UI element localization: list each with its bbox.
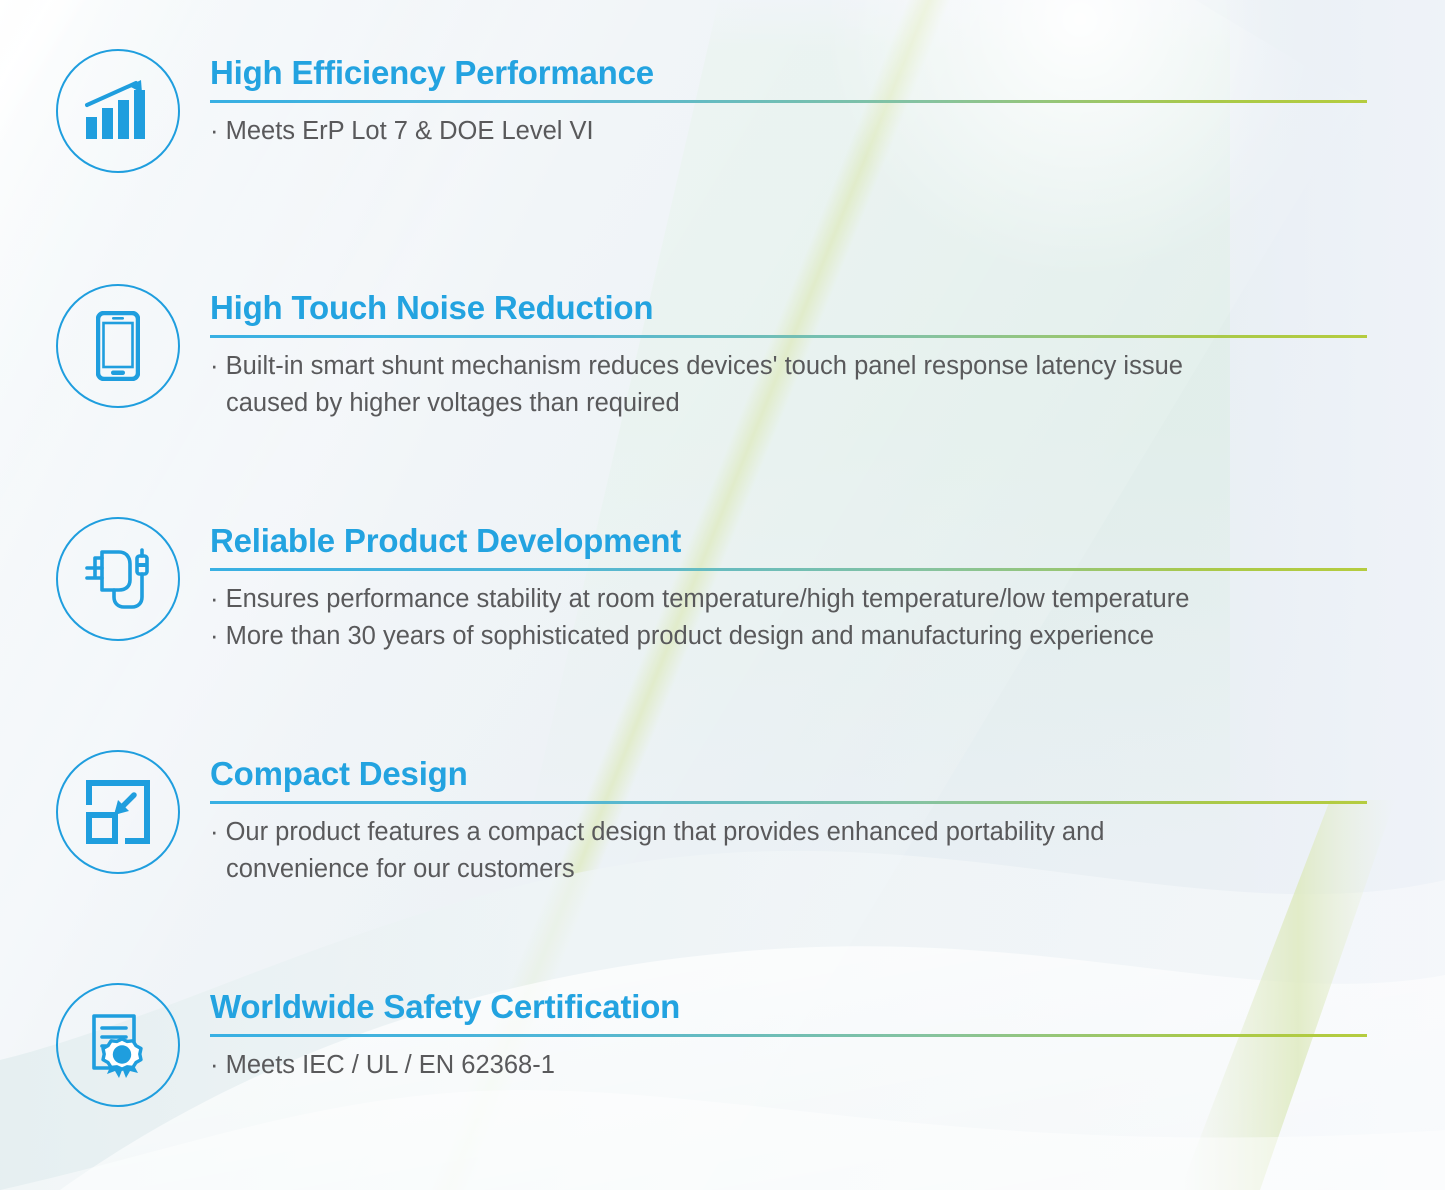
feature-bullet-line: · Meets ErP Lot 7 & DOE Level VI	[210, 113, 1445, 150]
feature-bullet-line: · Our product features a compact design …	[210, 814, 1445, 851]
bullet-marker: ·	[210, 117, 219, 145]
feature-divider	[210, 335, 1367, 338]
bullet-text: caused by higher voltages than required	[226, 389, 680, 417]
bullet-text: Meets ErP Lot 7 & DOE Level VI	[226, 117, 594, 145]
feature-title: Reliable Product Development	[210, 524, 1445, 559]
feature-bullet-line: · Built-in smart shunt mechanism reduces…	[210, 348, 1445, 385]
feature-icon-wrapper	[55, 516, 181, 642]
feature-body: · Meets IEC / UL / EN 62368-1	[210, 1047, 1445, 1084]
feature-bullet-line-continued: convenience for our customers	[210, 851, 1445, 888]
feature-icon-wrapper	[55, 982, 181, 1108]
feature-divider	[210, 100, 1367, 103]
feature-body: · Built-in smart shunt mechanism reduces…	[210, 348, 1445, 423]
bullet-text: convenience for our customers	[226, 855, 575, 883]
feature-bullet-line-continued: caused by higher voltages than required	[210, 385, 1445, 422]
feature-title: High Efficiency Performance	[210, 56, 1445, 91]
bullet-marker: ·	[210, 1051, 219, 1079]
bullet-marker: ·	[210, 818, 219, 846]
bullet-text: Our product features a compact design th…	[226, 818, 1105, 846]
feature-divider	[210, 801, 1367, 804]
feature-body: · Meets ErP Lot 7 & DOE Level VI	[210, 113, 1445, 150]
feature-bullet-line: · Meets IEC / UL / EN 62368-1	[210, 1047, 1445, 1084]
bullet-marker: ·	[210, 352, 219, 380]
feature-icon-wrapper	[55, 749, 181, 875]
feature-body: · Our product features a compact design …	[210, 814, 1445, 889]
feature-icon-wrapper	[55, 48, 181, 174]
feature-icon-wrapper	[55, 283, 181, 409]
smartphone-icon	[56, 284, 180, 408]
bullet-text: Built-in smart shunt mechanism reduces d…	[226, 352, 1183, 380]
feature-title: High Touch Noise Reduction	[210, 291, 1445, 326]
bullet-text: More than 30 years of sophisticated prod…	[226, 622, 1154, 650]
feature-divider	[210, 568, 1367, 571]
certificate-seal-icon	[56, 983, 180, 1107]
feature-title: Compact Design	[210, 757, 1445, 792]
power-adapter-icon	[56, 517, 180, 641]
feature-highlights-page: High Efficiency Performance · Meets ErP …	[0, 0, 1445, 1190]
bullet-marker: ·	[210, 622, 219, 650]
feature-bullet-line: · More than 30 years of sophisticated pr…	[210, 618, 1445, 655]
compact-resize-icon	[56, 750, 180, 874]
feature-title: Worldwide Safety Certification	[210, 990, 1445, 1025]
feature-divider	[210, 1034, 1367, 1037]
bullet-text: Ensures performance stability at room te…	[226, 585, 1190, 613]
bullet-marker: ·	[210, 585, 219, 613]
bar-chart-growth-icon	[56, 49, 180, 173]
feature-bullet-line: · Ensures performance stability at room …	[210, 581, 1445, 618]
feature-body: · Ensures performance stability at room …	[210, 581, 1445, 656]
bullet-text: Meets IEC / UL / EN 62368-1	[226, 1051, 555, 1079]
